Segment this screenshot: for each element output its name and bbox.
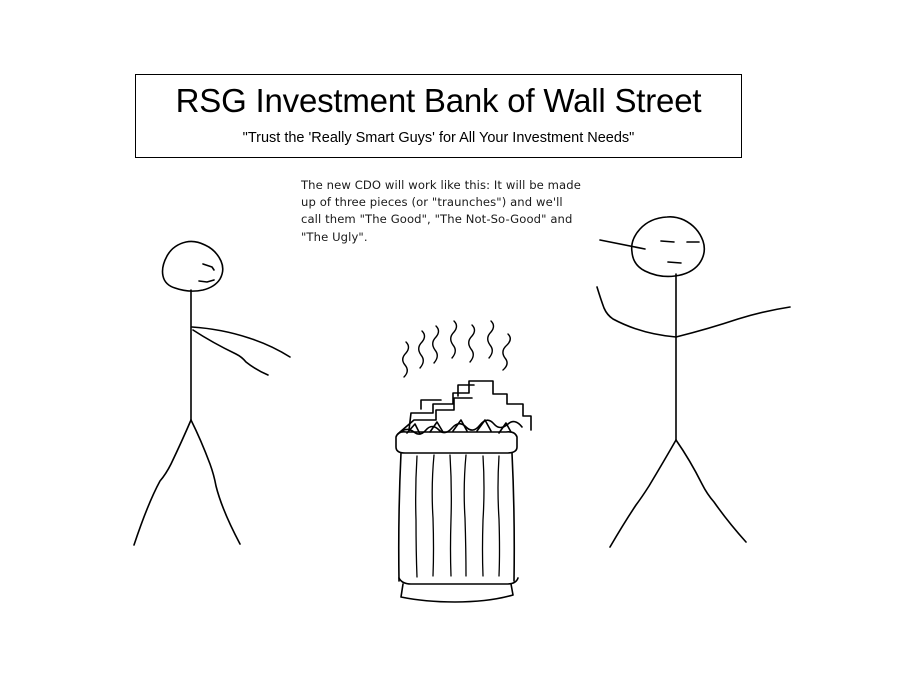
bank-sign-subtitle: "Trust the 'Really Smart Guys' for All Y… — [243, 131, 635, 146]
bank-sign-title: RSG Investment Bank of Wall Street — [176, 84, 702, 117]
trash-can-foot — [401, 584, 513, 602]
right-figure-right-leg — [676, 440, 746, 542]
trash-can — [396, 321, 531, 602]
left-figure-head — [163, 241, 223, 291]
left-figure-eye-icon — [203, 264, 214, 270]
right-figure-left-eye-icon — [661, 241, 674, 242]
left-figure-lower-arm — [193, 330, 268, 375]
trash-can-body — [399, 453, 401, 581]
trash-can-ribs — [416, 455, 500, 577]
left-figure-upper-arm — [192, 327, 290, 357]
bank-sign: RSG Investment Bank of Wall Street "Trus… — [135, 74, 742, 158]
right-stick-figure — [597, 217, 790, 547]
garbage-heap — [398, 381, 531, 434]
left-stick-figure — [134, 241, 290, 545]
dialogue-caption: The new CDO will work like this: It will… — [301, 177, 611, 246]
right-figure-right-arm — [676, 307, 790, 337]
trash-can-rim — [396, 432, 517, 453]
right-figure-left-leg — [610, 440, 676, 547]
right-figure-left-arm — [597, 287, 676, 337]
stink-lines-icon — [403, 321, 511, 377]
right-figure-mouth-icon — [668, 262, 681, 263]
left-figure-right-leg — [191, 420, 240, 544]
trash-can-body-right — [512, 453, 514, 581]
trash-can-base — [399, 578, 518, 584]
cartoon-canvas: RSG Investment Bank of Wall Street "Trus… — [0, 0, 900, 675]
right-figure-head — [632, 217, 705, 277]
left-figure-left-leg — [134, 420, 191, 545]
left-figure-mouth-icon — [199, 280, 214, 282]
